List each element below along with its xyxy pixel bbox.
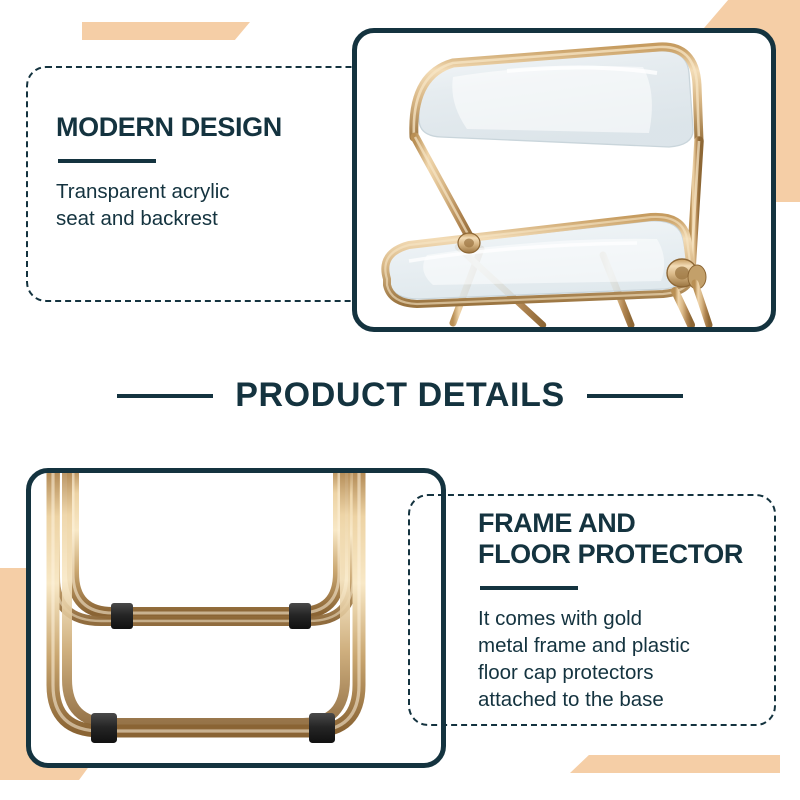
feature-heading-frame-protector: FRAME AND FLOOR PROTECTOR (478, 508, 768, 570)
accent-shape-top-left (82, 22, 250, 40)
heading-divider (58, 159, 156, 163)
chair-illustration (357, 33, 771, 327)
title-rule-left (117, 394, 213, 398)
floor-cap-front-left (91, 713, 117, 743)
section-title: PRODUCT DETAILS (235, 376, 564, 415)
feature-body-frame-protector: It comes with gold metal frame and plast… (478, 605, 768, 714)
floor-cap-front-right (309, 713, 335, 743)
floor-cap-rear-left (111, 603, 133, 629)
feature-heading-modern-design: MODERN DESIGN (56, 112, 356, 143)
section-title-row: PRODUCT DETAILS (0, 376, 800, 415)
heading-divider (480, 586, 578, 590)
product-image-chair (352, 28, 776, 332)
product-image-frame-detail (26, 468, 446, 768)
feature-text-frame-protector: FRAME AND FLOOR PROTECTOR It comes with … (478, 508, 768, 714)
infographic-canvas: MODERN DESIGN Transparent acrylic seat a… (0, 0, 800, 800)
feature-text-modern-design: MODERN DESIGN Transparent acrylic seat a… (56, 112, 356, 232)
title-rule-right (587, 394, 683, 398)
floor-cap-rear-right (289, 603, 311, 629)
feature-body-modern-design: Transparent acrylic seat and backrest (56, 178, 356, 233)
accent-shape-bottom-right (570, 755, 780, 773)
frame-detail-illustration (31, 473, 441, 763)
